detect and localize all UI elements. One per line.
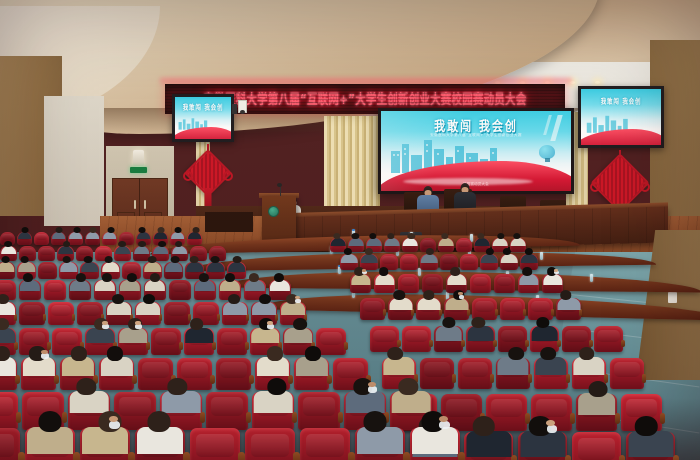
auditorium-seat[interactable] [360,298,385,320]
person-head [107,227,114,233]
face-mask-icon [368,386,377,393]
person-head [267,346,283,360]
person-shoulders [439,238,454,246]
person-head [190,256,199,263]
person-shoulders [228,262,245,272]
audience-member [59,256,78,273]
audience-member [466,317,495,343]
side-monitor-right-title: 我敢闯 我会创 [581,96,661,106]
audience-member [160,378,202,416]
audience-member [294,346,329,378]
seat-armrest [72,314,75,321]
person-head [143,294,155,304]
person-head [39,411,62,431]
person-head [56,227,63,233]
audience-member [626,416,675,460]
audience-member [69,273,91,293]
microphone-stem [280,186,281,196]
audience-member [136,227,151,240]
audience-member [153,227,168,240]
audience-member [135,294,161,317]
person-head [228,294,240,304]
audience-member [438,233,454,247]
audience-member [80,256,99,273]
audience-member [344,378,386,416]
audience-member [135,411,185,457]
person-head [399,378,418,395]
person-head [107,346,123,360]
audience-member [164,256,183,273]
audience-member [185,256,204,273]
audience-member [99,346,134,378]
person-head [199,273,209,282]
person-shoulders [81,262,98,272]
person-head [579,347,595,361]
audience-member [390,378,432,416]
person-head [259,294,271,304]
audience-member [269,273,291,293]
audience-member [143,256,162,273]
person-shoulders [357,427,403,454]
person-shoulders [351,274,370,285]
person-head [112,294,124,304]
person-head [379,267,389,275]
person-head [560,290,572,300]
person-shoulders [349,238,364,246]
person-head [363,411,386,431]
audience-member [133,241,150,256]
audience-member [534,347,568,378]
audience-member [101,256,120,273]
auditorium-seat[interactable] [38,246,55,261]
seat-armrest [245,342,249,350]
person-shoulders [18,262,35,272]
person-head [158,241,166,248]
audience-member [219,273,241,293]
person-shoulders [501,254,518,263]
knot-ear [183,171,193,181]
person-head [503,248,511,255]
microphone-icon [277,183,282,187]
person-head [541,347,557,361]
auditorium-seat[interactable] [494,274,515,293]
seat-armrest [348,452,355,460]
monitor-mount-arm [232,104,237,114]
audience-member [542,267,563,286]
person-head [394,290,406,300]
person-head [635,416,658,436]
seat-armrest [344,342,348,350]
person-face [554,269,558,272]
person-shoulders [60,262,77,272]
audience-member [227,256,246,273]
face-mask-icon [295,299,301,303]
person-head [524,248,532,255]
person-shoulders [511,238,526,246]
person-head [76,273,86,282]
stage-curtain-left [324,116,380,220]
audience-member [348,233,364,247]
audience-member [402,233,418,247]
audience-member [144,273,166,293]
person-head [522,267,532,275]
person-shoulders [186,262,203,272]
audience-member [434,317,463,343]
audience-member [384,233,400,247]
person-head [486,248,494,255]
wall-light-icon [133,150,144,166]
person-head [21,227,28,233]
audience-member [410,411,460,457]
audience-member [152,241,169,256]
screen-glare [381,111,571,191]
audience-member [374,267,395,286]
side-monitor-right-surface: 我敢闯 我会创 [581,89,661,145]
person-shoulders [102,262,119,272]
person-head [147,256,156,263]
person-head [450,267,460,275]
audience-member [114,241,131,256]
person-shoulders [165,262,182,272]
person-head [77,378,96,395]
audience-member [510,233,526,247]
person-shoulders [435,326,462,341]
person-head [175,241,183,248]
audience-member [360,248,378,264]
seat-armrest [293,452,300,460]
seat-armrest [551,309,554,316]
audience-member [444,290,469,312]
audience-member [556,290,581,312]
person-head [71,346,87,360]
knot-ear [590,182,600,192]
door-handle[interactable] [144,200,146,209]
seat-armrest [179,342,183,350]
person-head [138,241,146,248]
audience-member [255,346,290,378]
audience-member [572,347,606,378]
auditorium-seat[interactable] [400,254,418,270]
auditorium-photo: 安徽医科大学第八届“互联网+”大学生创新创业大赛校园赛动员大会 [0,0,700,460]
audience-member [68,227,83,240]
person-head [150,273,160,282]
audience-member [530,317,559,343]
person-head [267,378,286,395]
person-head [127,273,137,282]
person-head [211,256,220,263]
auditorium-seat[interactable] [245,428,295,460]
audience-member [85,227,100,240]
audience-member [355,411,405,457]
person-face [267,321,273,325]
seat-armrest [523,309,526,316]
audience-member [222,294,248,317]
person-head [4,241,12,248]
audience-member [184,318,214,345]
person-head [73,227,80,233]
seat-armrest [429,340,433,348]
person-head [171,256,180,263]
audience-member [119,273,141,293]
audience-member [25,411,75,457]
audience-member [474,233,490,247]
audience-member [496,347,530,378]
audience-member [106,294,132,317]
person-head [168,378,187,395]
auditorium-seat[interactable] [572,432,621,460]
person-head [233,256,242,263]
audience-member [0,256,15,273]
audience-member [520,248,538,264]
person-shoulders [375,274,394,285]
seat-armrest [495,309,498,316]
audience-member [518,267,539,286]
seat-armrest [570,413,575,424]
seat-armrest [642,374,646,383]
person-shoulders [519,274,538,285]
knot-ear [640,182,650,192]
auditorium-seat[interactable] [298,392,340,430]
audience-member [68,378,110,416]
side-monitor-left-title: 我敢闯 我会创 [175,102,231,112]
audience-member [57,241,74,256]
person-head [305,346,321,360]
university-emblem-icon [268,206,279,217]
person-head [20,256,29,263]
person-head [509,347,525,361]
person-head [344,248,352,255]
person-shoulders [467,326,494,341]
audience-member [19,273,41,293]
person-shoulders [144,262,161,272]
person-head [62,256,71,263]
person-shoulders [331,238,346,246]
person-head [293,318,307,330]
audience-member [420,248,438,264]
audience-member [250,318,280,345]
seat-armrest [18,452,25,460]
person-head [423,290,435,300]
person-head [0,318,9,330]
audience-member [85,318,115,345]
seat-armrest [619,455,625,460]
door-handle[interactable] [134,200,136,209]
person-head [90,227,97,233]
person-face [41,350,47,355]
person-head [473,416,496,436]
person-head [589,381,608,397]
side-monitor-right: 我敢闯 我会创 [578,86,664,148]
seat-armrest [16,412,21,423]
seat-armrest [238,452,245,460]
auditorium-seat[interactable] [217,328,247,355]
audience-member [492,233,508,247]
auditorium-seat[interactable] [48,302,74,325]
person-shoulders [475,238,490,246]
audience-member [446,267,467,286]
person-face [109,416,118,422]
side-monitor-left-surface: 我敢闯 我会创 [175,97,231,139]
audience-member [171,241,188,256]
person-head [102,273,112,282]
audience-member [382,347,416,378]
auditorium-seat[interactable] [19,302,45,325]
audience-member [80,411,130,457]
seat-armrest [217,314,220,321]
audience-member [170,227,185,240]
audience-member [187,227,202,240]
person-head [365,248,373,255]
audience-member [416,290,441,312]
audience-member [194,273,216,293]
main-projection-screen: 我敢闯 我会创 安徽医科大学第八届“互联网+”大学生创新创业大赛 校园赛动员大会 [378,108,574,194]
left-wall-panel [44,96,104,226]
audience-member [518,416,567,460]
auditorium-seat[interactable] [151,328,181,355]
seat-armrest [490,374,494,383]
person-shoulders [447,274,466,285]
audience-member [366,233,382,247]
audience-member [330,233,346,247]
person-face [439,416,448,422]
audience-member [206,256,225,273]
audience-member [17,227,32,240]
face-mask-icon [41,353,48,359]
face-mask-icon [439,421,450,429]
audience-member [283,318,313,345]
auditorium-seat[interactable] [44,280,66,300]
audience-member [60,346,95,378]
auditorium-seat[interactable] [458,358,492,389]
person-face [135,321,141,325]
person-head [63,241,71,248]
audience-member [350,267,371,286]
audience-member [252,378,294,416]
audience-member [244,273,266,293]
auditorium-seat[interactable] [34,232,49,245]
person-face [368,382,376,387]
auditorium-seat[interactable] [169,280,191,300]
projection-screen-surface: 我敢闯 我会创 安徽医科大学第八届“互联网+”大学生创新创业大赛 校园赛动员大会 [381,111,571,191]
exit-sign [130,167,147,173]
audience-member [388,290,413,312]
person-head [158,227,165,233]
audience-member [340,248,358,264]
person-shoulders [207,262,224,272]
audience-member [21,346,56,378]
seat-armrest [383,309,386,316]
auditorium-seat[interactable] [300,428,350,460]
knot-ear [223,171,233,181]
auditorium-seat[interactable] [206,392,248,430]
auditorium-seat[interactable] [0,392,18,430]
person-face [362,269,366,272]
audience-member [102,227,117,240]
audience-member [464,416,513,460]
audience-seating-area [0,228,700,460]
auditorium-seat[interactable] [0,428,20,460]
auditorium-seat[interactable] [470,274,491,293]
person-shoulders [367,238,382,246]
audience-member [0,241,17,256]
auditorium-seat[interactable] [456,238,472,252]
camera-lens-icon [240,110,245,114]
person-head [104,256,113,263]
audience-member [480,248,498,264]
audience-member [17,256,36,273]
audience-member [0,318,16,345]
person-head [118,241,126,248]
person-face [102,321,108,325]
person-head [274,273,284,282]
audience-member [51,227,66,240]
person-head [190,318,204,330]
person-head [387,347,403,361]
auditorium-seat[interactable] [500,298,525,320]
person-head [249,273,259,282]
person-head [225,273,235,282]
audience-member [500,248,518,264]
audience-member [280,294,306,317]
person-head [139,227,146,233]
person-head [175,227,182,233]
person-head [192,227,199,233]
audience-member [251,294,277,317]
person-shoulders [531,326,558,341]
seat-armrest [43,314,46,321]
person-shoulders [493,238,508,246]
person-head [426,248,434,255]
audience-member [576,381,617,418]
auditorium-seat[interactable] [216,358,251,390]
auditorium-seat[interactable] [190,428,240,460]
person-head [23,273,33,282]
audience-member [0,346,17,378]
face-mask-icon [109,421,120,429]
seat-armrest [621,340,625,348]
person-head [148,411,171,431]
person-head [1,256,10,263]
person-shoulders [0,262,14,272]
audience-member [94,273,116,293]
audience-member [118,318,148,345]
person-shoulders [385,238,400,246]
person-shoulders [82,427,128,454]
seat-armrest [338,412,343,423]
person-shoulders [543,274,562,285]
ceiling-light-icon [595,81,600,84]
audience-member [0,294,16,317]
seat-armrest [452,374,456,383]
side-monitor-left: 我敢闯 我会创 [172,94,234,142]
seat-armrest [210,375,215,385]
person-head [84,256,93,263]
seat-armrest [246,412,251,423]
face-mask-icon [547,425,557,433]
face-mask-icon [459,295,464,299]
person-face [295,296,300,299]
